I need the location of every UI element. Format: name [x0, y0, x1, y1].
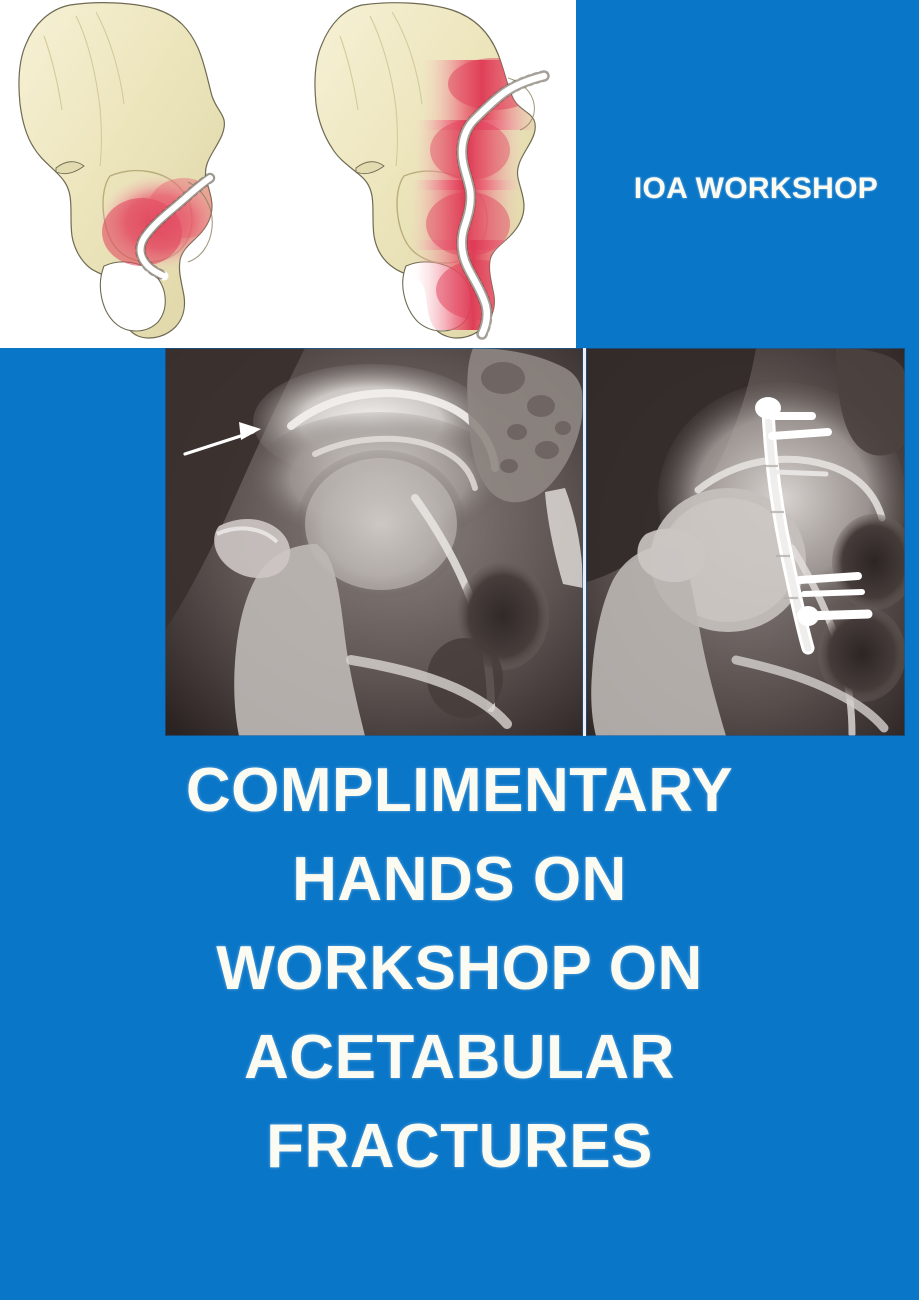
pelvis-illustration-posterior-wall: [0, 0, 282, 348]
screw-upper-3: [776, 472, 826, 474]
radiograph-image: [586, 348, 905, 736]
screw-lower-1: [800, 576, 858, 580]
pelvis-bone-icon: [282, 0, 576, 348]
radiograph-band: [165, 348, 905, 736]
illustration-panel: [0, 0, 576, 348]
title-line-4: ACETABULAR: [0, 1013, 919, 1102]
organization-label: IOA WORKSHOP: [596, 172, 916, 206]
pelvis-bone-icon: [0, 0, 282, 348]
title-line-2: HANDS ON: [0, 835, 919, 924]
pelvis-illustration-transverse: [282, 0, 576, 348]
screw-upper-2: [772, 432, 828, 436]
screw-head-distal: [797, 606, 819, 626]
poster-canvas: IOA WORKSHOP: [0, 0, 919, 1300]
title-line-3: WORKSHOP ON: [0, 924, 919, 1013]
postoperative-hip-radiograph: [586, 348, 905, 736]
screw-lower-2: [804, 592, 862, 594]
title-line-1: COMPLIMENTARY: [0, 746, 919, 835]
preoperative-hip-radiograph: [165, 348, 583, 736]
radiograph-image: [165, 348, 583, 736]
page-title: COMPLIMENTARY HANDS ON WORKSHOP ON ACETA…: [0, 746, 919, 1191]
title-line-5: FRACTURES: [0, 1102, 919, 1191]
